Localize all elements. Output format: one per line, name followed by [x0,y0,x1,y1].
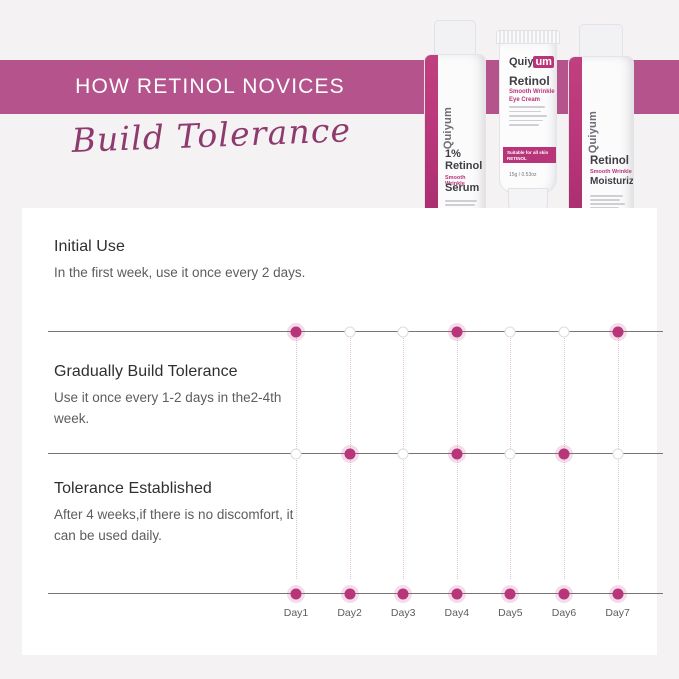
timeline-day-label: Day4 [445,607,470,619]
timeline-dot-applied [344,448,355,459]
timeline-dot-applied [612,326,623,337]
serum-accent-stripe [425,55,438,223]
product-serum: Quiyum 1% Retinol Smooth Wrinkle Serum 3… [424,20,486,224]
timeline-day-label: Day7 [605,607,630,619]
timeline-dot-applied [344,588,355,599]
timeline-dot-skipped [505,326,516,337]
product-eye-cream: Quiyum Retinol Smooth WrinkleEye Cream S… [496,30,560,210]
timeline-day-label: Day2 [337,607,362,619]
timeline-dot-skipped [612,448,623,459]
timeline-day-label: Day6 [552,607,577,619]
timeline-axis-line [48,331,663,332]
tube-body: Quiyum Retinol Smooth WrinkleEye Cream S… [499,43,557,193]
tube-title: Retinol [509,74,550,88]
tube-description-lines [509,106,547,126]
timeline-dot-applied [291,326,302,337]
tube-volume: 15g / 0.53oz [509,172,537,178]
product-lineup-image: Quiyum 1% Retinol Smooth Wrinkle Serum 3… [418,8,643,226]
serum-title-3: Serum [445,183,479,195]
timeline-dot-skipped [291,448,302,459]
timeline-dot-applied [559,588,570,599]
moisturizer-subtitle: Smooth Wrinkle [590,169,632,175]
timeline-dot-applied [291,588,302,599]
moisturizer-pump-cap [579,24,623,58]
timeline-dot-skipped [398,448,409,459]
serum-bottle-body: Quiyum 1% Retinol Smooth Wrinkle Serum 3… [424,54,486,224]
tube-brand-label: Quiyum [509,56,554,68]
page-title: HOW RETINOL NOVICES [0,60,420,114]
timeline-dot-skipped [344,326,355,337]
timeline-dot-applied [612,588,623,599]
timeline-day-label: Day1 [284,607,309,619]
serum-brand-label: Quiyum [442,107,454,149]
timeline-day-label: Day3 [391,607,416,619]
timeline-axis-line [48,593,663,594]
timeline-dot-applied [398,588,409,599]
usage-frequency-timeline: Day1Day2Day3Day4Day5Day6Day7 [22,208,657,655]
timeline-axis-line [48,453,663,454]
timeline-day-label: Day5 [498,607,523,619]
tube-cap [508,188,548,210]
timeline-dot-applied [505,588,516,599]
timeline-dot-skipped [559,326,570,337]
serum-pump-cap [434,20,476,56]
timeline-dot-skipped [398,326,409,337]
moisturizer-title: Retinol [590,155,629,167]
tube-crimp-seal [496,30,560,44]
timeline-dot-applied [559,448,570,459]
moisturizer-accent-stripe [569,57,582,223]
content-card: Initial Use In the first week, use it on… [22,208,657,655]
moisturizer-title-2: Moisturizer [590,177,634,188]
timeline-dot-applied [451,448,462,459]
tube-subtitle: Smooth WrinkleEye Cream [509,88,555,104]
serum-title-2: Retinol [445,161,482,173]
timeline-dot-applied [451,588,462,599]
page-subtitle: Build Tolerance [71,109,393,179]
product-moisturizer: Quiyum Retinol Smooth Wrinkle Moisturize… [568,24,634,224]
moisturizer-description-lines [590,195,625,209]
moisturizer-bottle-body: Quiyum Retinol Smooth Wrinkle Moisturize… [568,56,634,224]
timeline-dot-applied [451,326,462,337]
timeline-dot-skipped [505,448,516,459]
tube-badge: Suitable for all skinRETINOL [503,147,557,163]
moisturizer-brand-label: Quiyum [587,111,599,153]
